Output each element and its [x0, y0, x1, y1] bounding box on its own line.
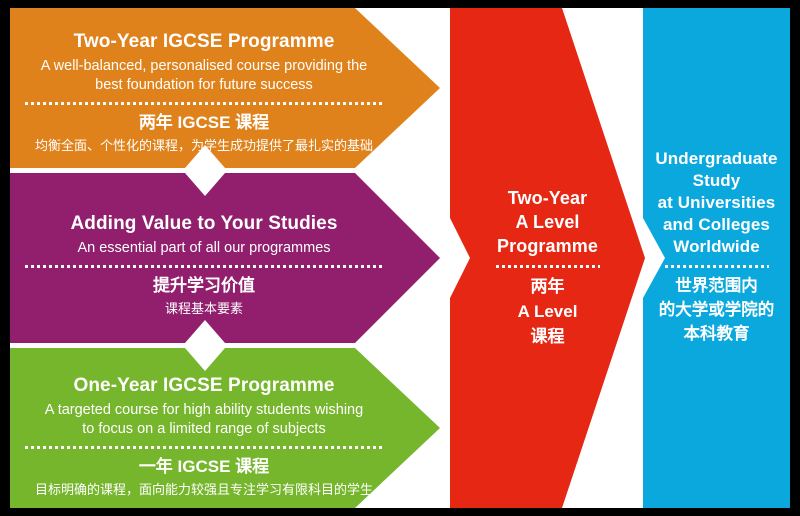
- diagram-canvas: Two-Year IGCSE Programme A well-balanced…: [10, 8, 790, 508]
- pathway-band-two-year-igcse[interactable]: Two-Year IGCSE Programme A well-balanced…: [10, 8, 440, 168]
- pathway-band-adding-value[interactable]: Adding Value to Your Studies An essentia…: [10, 173, 440, 343]
- blue-column-shape: [643, 8, 790, 508]
- red-column-arrow-shape: [450, 8, 645, 508]
- destination-column[interactable]: Undergraduate Study at Universities and …: [643, 8, 790, 508]
- green-arrow-shape: [10, 348, 440, 508]
- diagram-stage: Two-Year IGCSE Programme A well-balanced…: [0, 0, 800, 516]
- pathway-band-one-year-igcse[interactable]: One-Year IGCSE Programme A targeted cour…: [10, 348, 440, 508]
- alevel-column[interactable]: Two-Year A Level Programme 两年 A Level 课程: [450, 8, 645, 508]
- purple-arrow-shape: [10, 173, 440, 343]
- orange-arrow-shape: [10, 8, 440, 168]
